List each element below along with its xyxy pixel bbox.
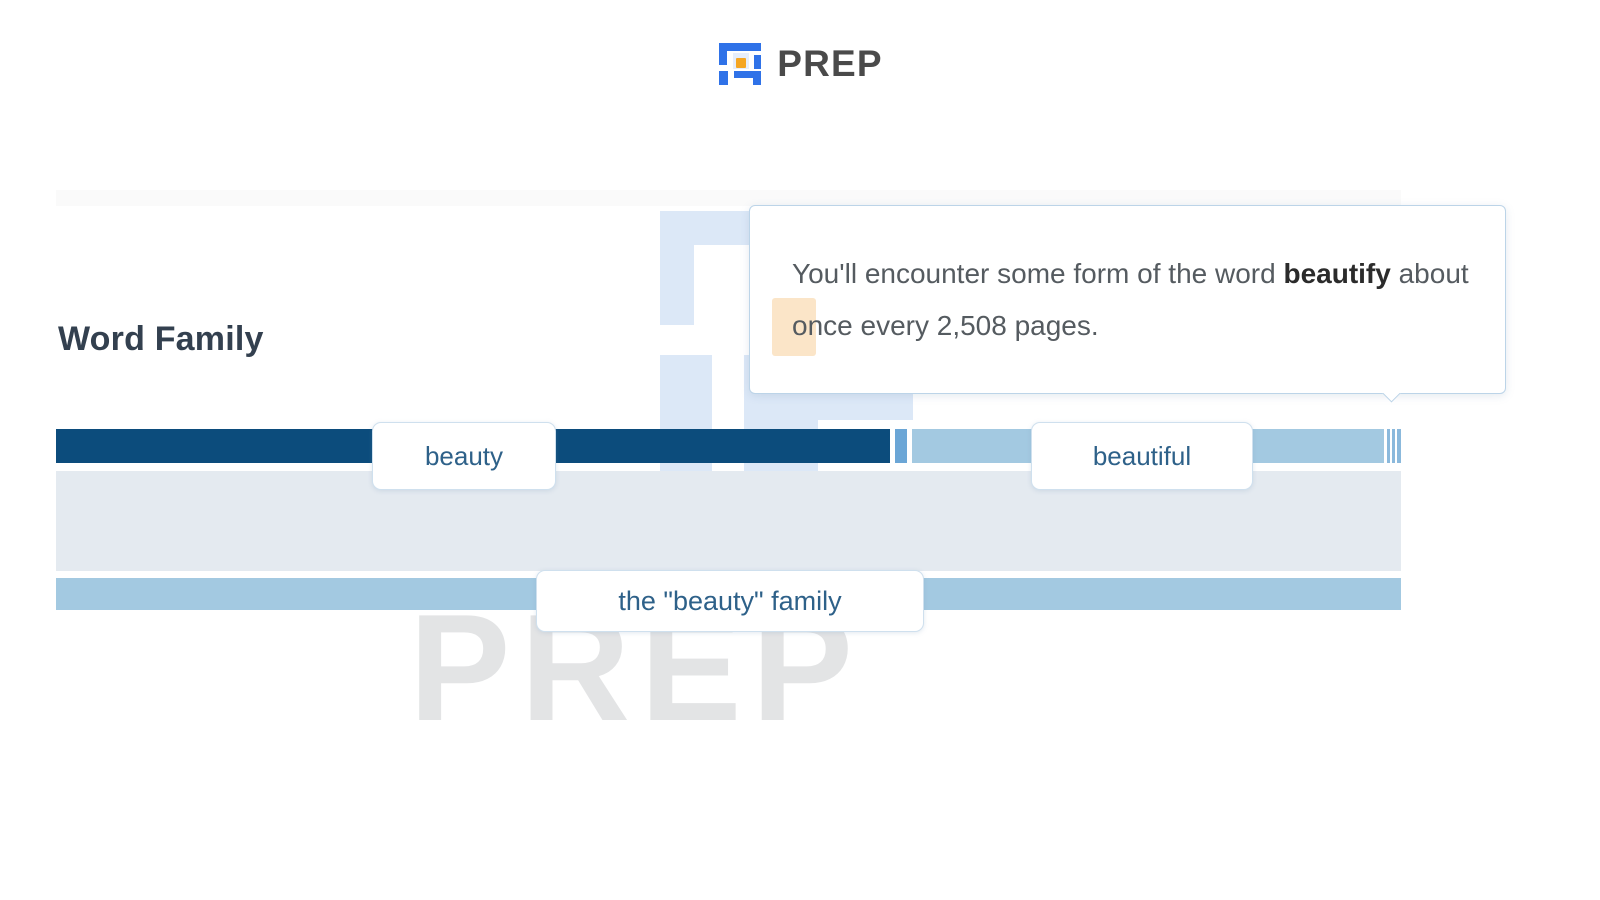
tooltip-prefix: You'll encounter some form of the word: [792, 258, 1283, 289]
page-root: PREP PREP Word Family: [0, 0, 1600, 900]
bar-label-beautiful[interactable]: beautiful: [1031, 422, 1253, 490]
brand-wordmark: PREP: [777, 45, 883, 84]
bar-label-family[interactable]: the "beauty" family: [536, 570, 924, 632]
tooltip-keyword: beautify: [1283, 258, 1390, 289]
bar-segment-beauteous[interactable]: [1397, 429, 1401, 463]
panel-top-strip: [56, 190, 1401, 206]
prep-bracket-logo-icon: [717, 41, 763, 87]
frequency-tooltip: You'll encounter some form of the word b…: [749, 205, 1506, 394]
tooltip-text: You'll encounter some form of the word b…: [792, 248, 1472, 352]
bar-label-beauty[interactable]: beauty: [372, 422, 556, 490]
page-title: Word Family: [58, 320, 264, 359]
tooltip-arrow-icon: [1381, 393, 1401, 411]
bar-segment-beautiful-a[interactable]: [895, 429, 907, 463]
brand-header: PREP: [0, 34, 1600, 94]
